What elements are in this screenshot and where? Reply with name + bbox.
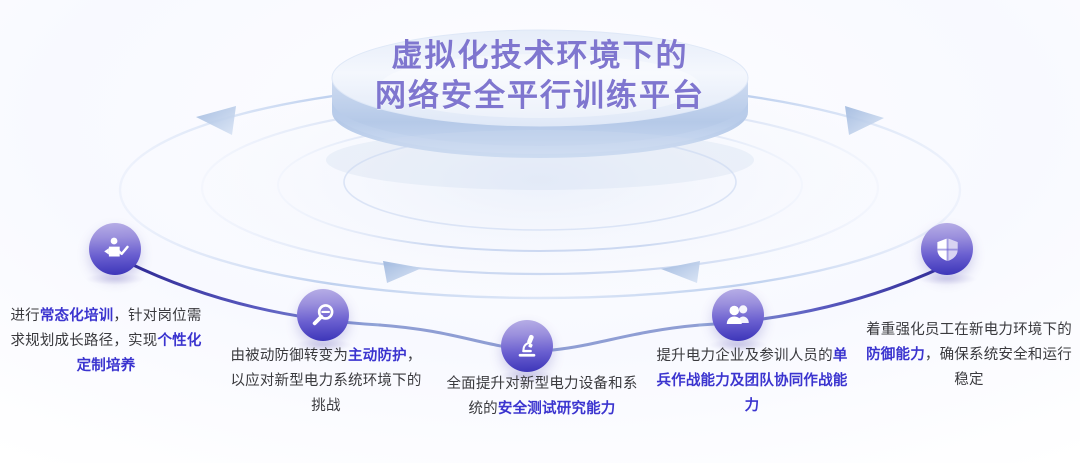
- orbit-arrow-bottom-left: [383, 261, 422, 283]
- orbit-ring-middle: [202, 102, 878, 274]
- caption-security-testing: 全面提升对新型电力设备和系统的安全测试研究能力: [444, 372, 640, 422]
- platform-title: 虚拟化技术环境下的 网络安全平行训练平台: [260, 36, 820, 117]
- platform-title-line-2: 网络安全平行训练平台: [260, 76, 820, 116]
- node-circle[interactable]: [89, 223, 141, 275]
- node-training[interactable]: [89, 223, 141, 275]
- orbit-arrow-top-right: [845, 106, 884, 135]
- node-security-testing[interactable]: [501, 320, 553, 372]
- microscope-icon: [513, 332, 541, 360]
- caption-part: ，确保系统安全和运行稳定: [925, 347, 1072, 388]
- shield-icon: [934, 236, 961, 263]
- magnifier-icon: [309, 301, 337, 329]
- orbit-ring-innermost: [344, 134, 736, 230]
- caption-highlight: 防御能力: [866, 347, 925, 363]
- node-circle[interactable]: [297, 289, 349, 341]
- caption-training: 进行常态化培训，针对岗位需求规划成长路径，实现个性化定制培养: [8, 304, 204, 379]
- node-team-capability[interactable]: [712, 289, 764, 341]
- caption-highlight: 安全测试研究能力: [498, 401, 616, 417]
- caption-highlight: 常态化培训: [40, 308, 114, 324]
- caption-team-capability: 提升电力企业及参训人员的单兵作战能力及团队协同作战能力: [652, 344, 852, 419]
- caption-part: 进行: [10, 308, 39, 324]
- platform-title-line-1: 虚拟化技术环境下的: [260, 36, 820, 76]
- caption-defense-capability: 着重强化员工在新电力环境下的防御能力，确保系统安全和运行稳定: [866, 318, 1072, 393]
- presenter-training-icon: [100, 234, 130, 264]
- infographic-canvas: 虚拟化技术环境下的 网络安全平行训练平台 进行常态化培训，针对岗位需求规划成长路…: [0, 0, 1080, 463]
- node-circle[interactable]: [712, 289, 764, 341]
- two-people-icon: [723, 300, 753, 330]
- node-defense-capability[interactable]: [921, 223, 973, 275]
- caption-part: 着重强化员工在新电力环境下的: [866, 322, 1072, 338]
- orbit-arrow-bottom-right: [661, 261, 700, 283]
- caption-part: 提升电力企业及参训人员的: [656, 348, 832, 364]
- caption-active-defense: 由被动防御转变为主动防护，以应对新型电力系统环境下的挑战: [228, 344, 424, 419]
- platform-disc-shadow: [326, 130, 754, 190]
- caption-part: 由被动防御转变为: [230, 348, 348, 364]
- node-active-defense[interactable]: [297, 289, 349, 341]
- node-circle[interactable]: [501, 320, 553, 372]
- node-circle[interactable]: [921, 223, 973, 275]
- orbit-arrow-top-left: [196, 106, 236, 135]
- orbit-ring-inner: [278, 119, 802, 251]
- caption-highlight: 主动防护: [348, 348, 407, 364]
